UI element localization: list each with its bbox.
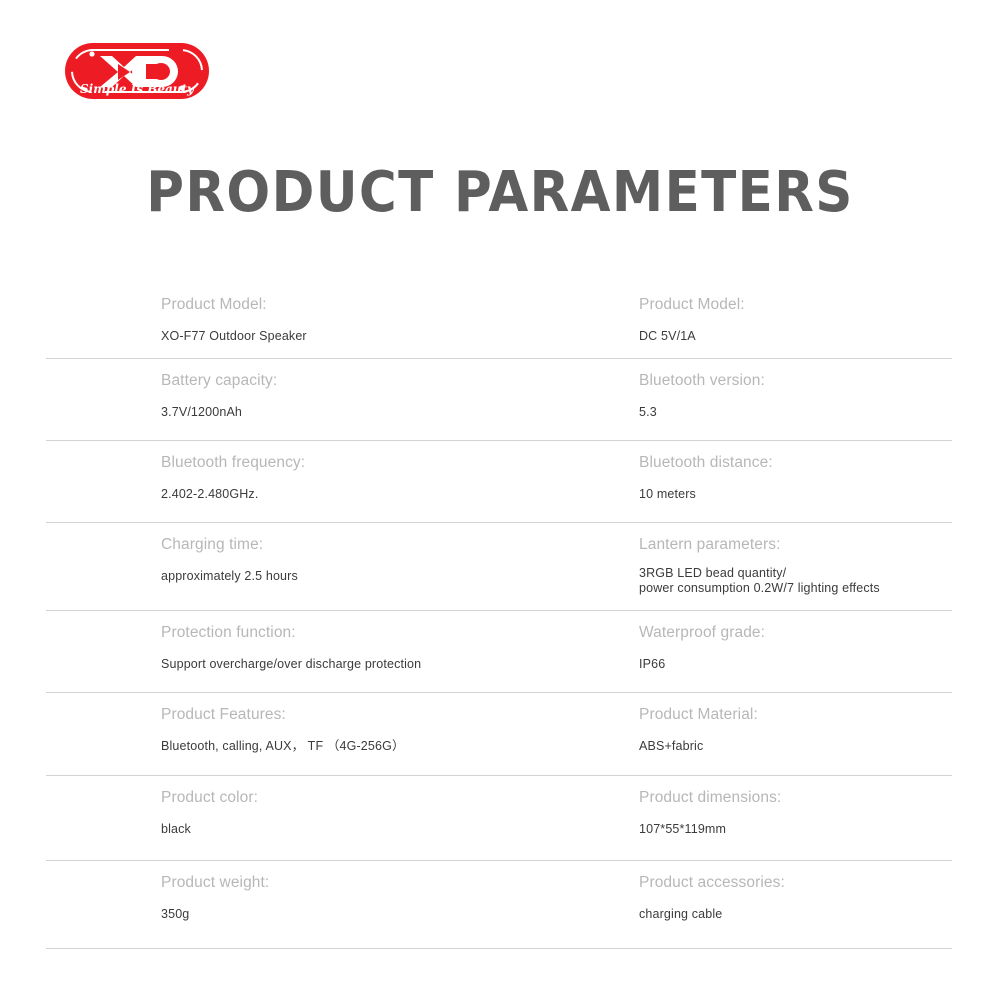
product-parameters-page: Simple Is Beauty PRODUCT PARAMETERS Prod… <box>0 0 1000 1000</box>
spec-value: Support overcharge/over discharge protec… <box>161 657 524 672</box>
table-row: Charging time: approximately 2.5 hours L… <box>46 523 952 611</box>
spec-label: Lantern parameters: <box>639 535 952 555</box>
spec-value-line: 3.7V/1200nAh <box>161 405 524 420</box>
spec-value: XO-F77 Outdoor Speaker <box>161 329 524 344</box>
spec-cell-left: Product Features: Bluetooth, calling, AU… <box>46 693 524 775</box>
spec-value: 107*55*119mm <box>639 822 952 837</box>
spec-value: approximately 2.5 hours <box>161 569 524 584</box>
spec-value-line: ABS+fabric <box>639 739 952 754</box>
spec-value: IP66 <box>639 657 952 672</box>
spec-label: Protection function: <box>161 623 524 643</box>
spec-cell-left: Bluetooth frequency: 2.402-2.480GHz. <box>46 441 524 522</box>
spec-cell-left: Product weight: 350g <box>46 861 524 948</box>
spec-cell-right: Product dimensions: 107*55*119mm <box>524 776 952 860</box>
spec-value: 2.402-2.480GHz. <box>161 487 524 502</box>
spec-label: Bluetooth frequency: <box>161 453 524 473</box>
table-row: Bluetooth frequency: 2.402-2.480GHz. Blu… <box>46 441 952 523</box>
spec-label: Product dimensions: <box>639 788 952 808</box>
table-row: Product weight: 350g Product accessories… <box>46 861 952 949</box>
spec-value: 3.7V/1200nAh <box>161 405 524 420</box>
spec-value-line: black <box>161 822 524 837</box>
spec-cell-left: Protection function: Support overcharge/… <box>46 611 524 692</box>
spec-value: ABS+fabric <box>639 739 952 754</box>
spec-label: Product accessories: <box>639 873 952 893</box>
spec-cell-left: Product color: black <box>46 776 524 860</box>
spec-cell-left: Battery capacity: 3.7V/1200nAh <box>46 359 524 440</box>
specifications-table: Product Model: XO-F77 Outdoor Speaker Pr… <box>46 283 952 949</box>
spec-label: Waterproof grade: <box>639 623 952 643</box>
spec-value: DC 5V/1A <box>639 329 952 344</box>
spec-label: Product Model: <box>639 295 952 315</box>
spec-value-line: power consumption 0.2W/7 lighting effect… <box>639 581 952 596</box>
spec-value-line: 5.3 <box>639 405 952 420</box>
spec-value-line: 2.402-2.480GHz. <box>161 487 524 502</box>
spec-value-line: Bluetooth, calling, AUX， TF （4G-256G） <box>161 739 524 754</box>
spec-value-line: 350g <box>161 907 524 922</box>
table-row: Battery capacity: 3.7V/1200nAh Bluetooth… <box>46 359 952 441</box>
spec-value-line: 3RGB LED bead quantity/ <box>639 566 952 581</box>
spec-cell-right: Product accessories: charging cable <box>524 861 952 948</box>
spec-label: Product weight: <box>161 873 524 893</box>
spec-cell-right: Bluetooth distance: 10 meters <box>524 441 952 522</box>
spec-value-line: XO-F77 Outdoor Speaker <box>161 329 524 344</box>
spec-cell-left: Charging time: approximately 2.5 hours <box>46 523 524 610</box>
spec-label: Bluetooth distance: <box>639 453 952 473</box>
spec-cell-right: Product Material: ABS+fabric <box>524 693 952 775</box>
table-row: Product Features: Bluetooth, calling, AU… <box>46 693 952 776</box>
spec-value-line: IP66 <box>639 657 952 672</box>
spec-value: 10 meters <box>639 487 952 502</box>
brand-logo: Simple Is Beauty <box>62 40 212 102</box>
spec-value-line: DC 5V/1A <box>639 329 952 344</box>
spec-value: black <box>161 822 524 837</box>
logo-tagline: Simple Is Beauty <box>80 82 195 96</box>
table-row: Protection function: Support overcharge/… <box>46 611 952 693</box>
table-row: Product Model: XO-F77 Outdoor Speaker Pr… <box>46 283 952 359</box>
page-title: PRODUCT PARAMETERS <box>40 160 960 225</box>
spec-value: 350g <box>161 907 524 922</box>
spec-value: Bluetooth, calling, AUX， TF （4G-256G） <box>161 739 524 754</box>
spec-value: 5.3 <box>639 405 952 420</box>
spec-label: Battery capacity: <box>161 371 524 391</box>
spec-value-line: Support overcharge/over discharge protec… <box>161 657 524 672</box>
spec-value: 3RGB LED bead quantity/ power consumptio… <box>639 566 952 596</box>
spec-value: charging cable <box>639 907 952 922</box>
spec-value-line: 10 meters <box>639 487 952 502</box>
spec-cell-right: Bluetooth version: 5.3 <box>524 359 952 440</box>
spec-label: Product Model: <box>161 295 524 315</box>
spec-label: Product Material: <box>639 705 952 725</box>
spec-label: Bluetooth version: <box>639 371 952 391</box>
xo-logo-icon: Simple Is Beauty <box>62 40 212 102</box>
spec-cell-right: Product Model: DC 5V/1A <box>524 283 952 358</box>
spec-label: Product Features: <box>161 705 524 725</box>
spec-label: Charging time: <box>161 535 524 555</box>
spec-label: Product color: <box>161 788 524 808</box>
table-row: Product color: black Product dimensions:… <box>46 776 952 861</box>
spec-cell-right: Lantern parameters: 3RGB LED bead quanti… <box>524 523 952 610</box>
spec-cell-left: Product Model: XO-F77 Outdoor Speaker <box>46 283 524 358</box>
spec-value-line: charging cable <box>639 907 952 922</box>
spec-value-line: 107*55*119mm <box>639 822 952 837</box>
spec-value-line: approximately 2.5 hours <box>161 569 524 584</box>
spec-cell-right: Waterproof grade: IP66 <box>524 611 952 692</box>
